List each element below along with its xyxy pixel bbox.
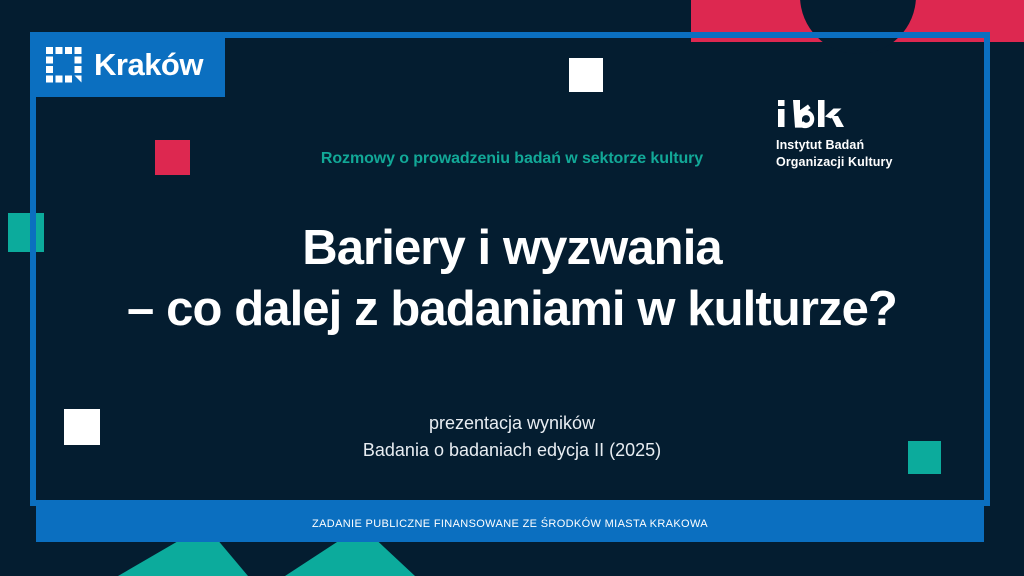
slide-subtext: prezentacja wyników Badania o badaniach … xyxy=(0,410,1024,464)
funding-footer-bar: ZADANIE PUBLICZNE FINANSOWANE ZE ŚRODKÓW… xyxy=(36,506,984,542)
krakow-logo-label: Kraków xyxy=(94,49,203,80)
ibk-monogram-icon xyxy=(776,100,856,134)
funding-footer-text: ZADANIE PUBLICZNE FINANSOWANE ZE ŚRODKÓW… xyxy=(312,518,708,530)
slide-title-line-2: – co dalej z badaniami w kulturze? xyxy=(0,279,1024,340)
slide-subtext-line-1: prezentacja wyników xyxy=(0,410,1024,437)
krakow-grid-icon xyxy=(46,47,82,83)
teal-triangle-decoration-1 xyxy=(118,542,248,576)
slide-eyebrow: Rozmowy o prowadzeniu badań w sektorze k… xyxy=(0,150,1024,168)
presentation-slide: Kraków Instytut Badań Organizacji Kultur… xyxy=(0,0,1024,576)
krakow-logo: Kraków xyxy=(30,32,225,97)
slide-title: Bariery i wyzwania – co dalej z badaniam… xyxy=(0,218,1024,340)
teal-triangle-decoration-2 xyxy=(285,542,415,576)
slide-subtext-line-2: Badania o badaniach edycja II (2025) xyxy=(0,437,1024,464)
slide-title-line-1: Bariery i wyzwania xyxy=(302,221,722,275)
